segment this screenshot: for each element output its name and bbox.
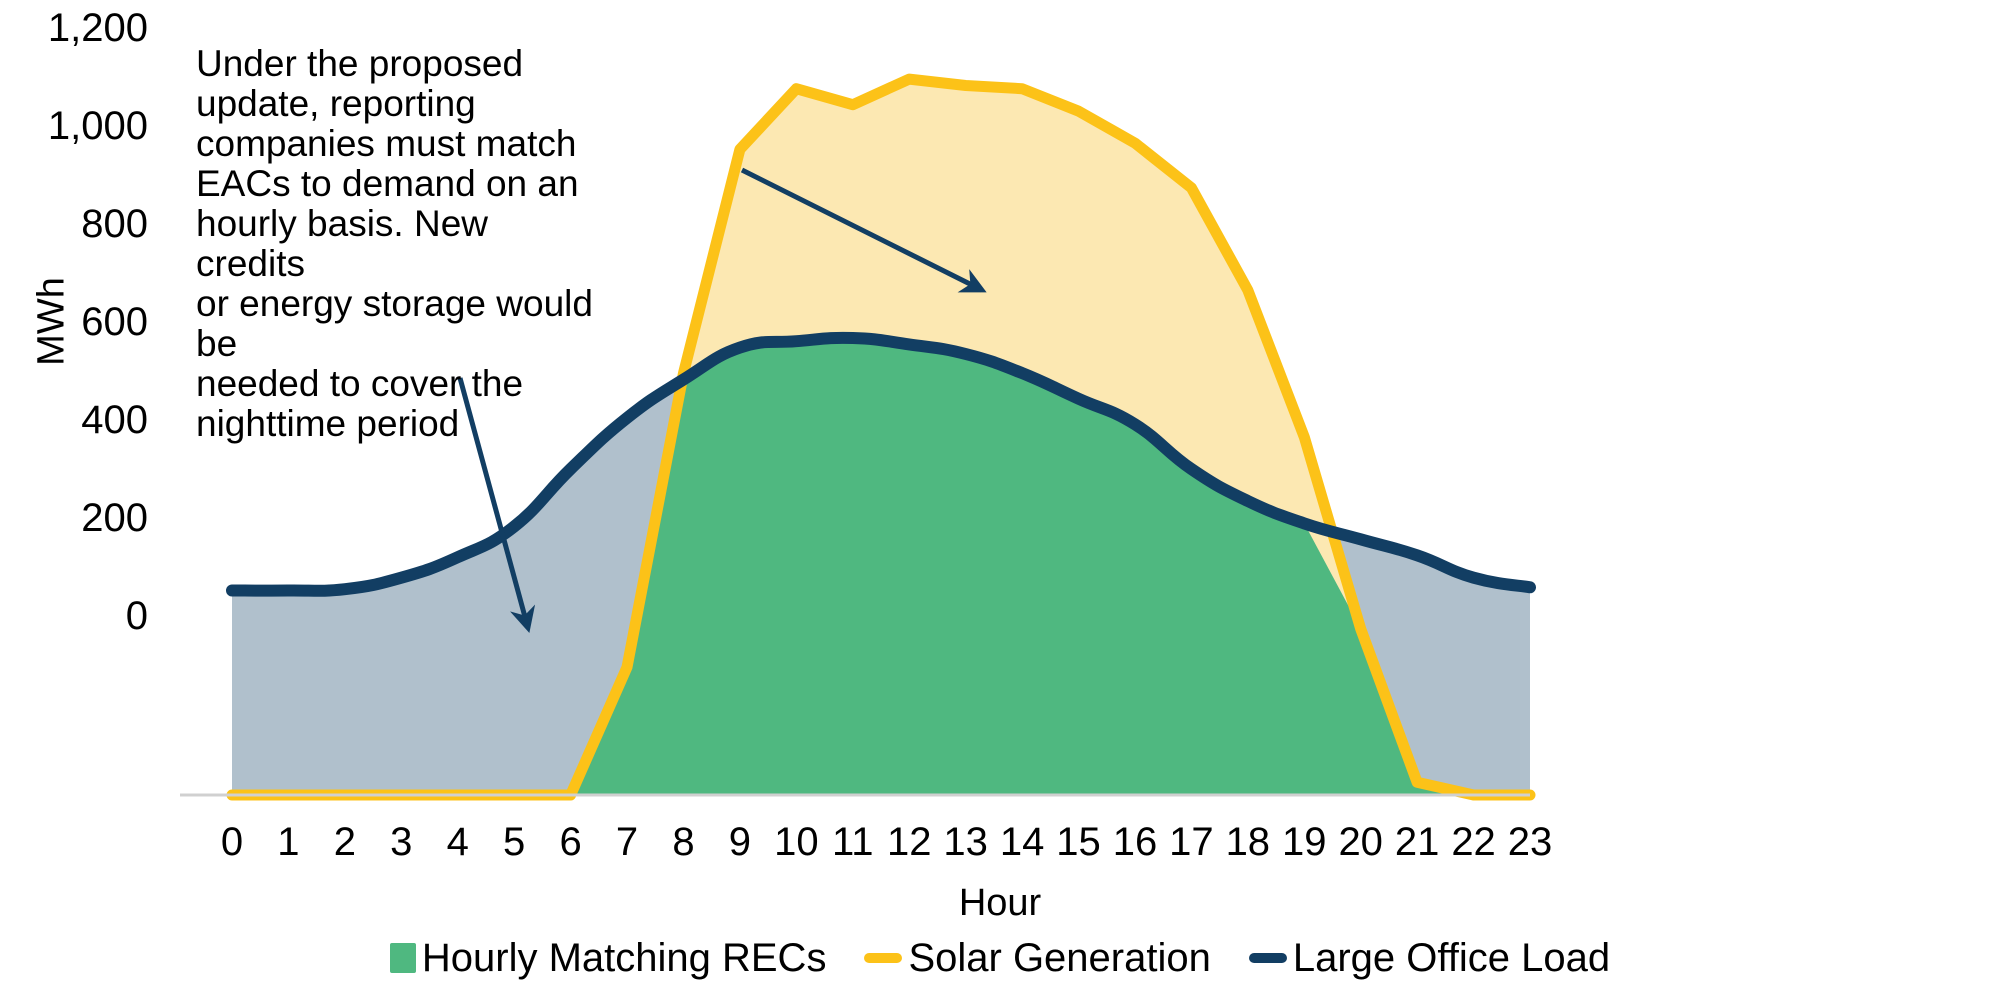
x-tick-22: 22 [1451,820,1496,865]
x-tick-5: 5 [503,820,525,865]
x-tick-23: 23 [1508,820,1553,865]
x-tick-12: 12 [887,820,932,865]
chart-legend: Hourly Matching RECsSolar GenerationLarg… [0,938,2000,978]
legend-swatch-icon [390,943,416,973]
x-axis-title: Hour [0,882,2000,925]
legend-swatch-icon [1249,953,1287,963]
legend-label: Large Office Load [1293,938,1610,978]
x-tick-15: 15 [1056,820,1101,865]
x-tick-4: 4 [447,820,469,865]
x-tick-0: 0 [221,820,243,865]
x-tick-21: 21 [1395,820,1440,865]
annotation-callout-text: Under the proposed update, reporting com… [196,44,596,444]
chart-root: 1,200 1,000 800 600 400 200 0 MWh Under … [0,0,2000,1008]
legend-item-1[interactable]: Solar Generation [864,938,1210,978]
legend-swatch-icon [864,953,902,963]
legend-label: Solar Generation [908,938,1210,978]
x-tick-9: 9 [729,820,751,865]
x-tick-1: 1 [277,820,299,865]
x-tick-3: 3 [390,820,412,865]
x-tick-10: 10 [774,820,819,865]
legend-item-0[interactable]: Hourly Matching RECs [390,938,827,978]
x-tick-13: 13 [943,820,988,865]
x-tick-8: 8 [672,820,694,865]
legend-label: Hourly Matching RECs [422,938,827,978]
legend-item-2[interactable]: Large Office Load [1249,938,1610,978]
x-tick-18: 18 [1226,820,1271,865]
x-tick-16: 16 [1113,820,1158,865]
x-tick-7: 7 [616,820,638,865]
x-tick-6: 6 [559,820,581,865]
x-tick-20: 20 [1338,820,1383,865]
x-tick-11: 11 [832,820,874,865]
x-tick-19: 19 [1282,820,1327,865]
x-tick-17: 17 [1169,820,1214,865]
x-tick-2: 2 [334,820,356,865]
x-tick-14: 14 [1000,820,1045,865]
